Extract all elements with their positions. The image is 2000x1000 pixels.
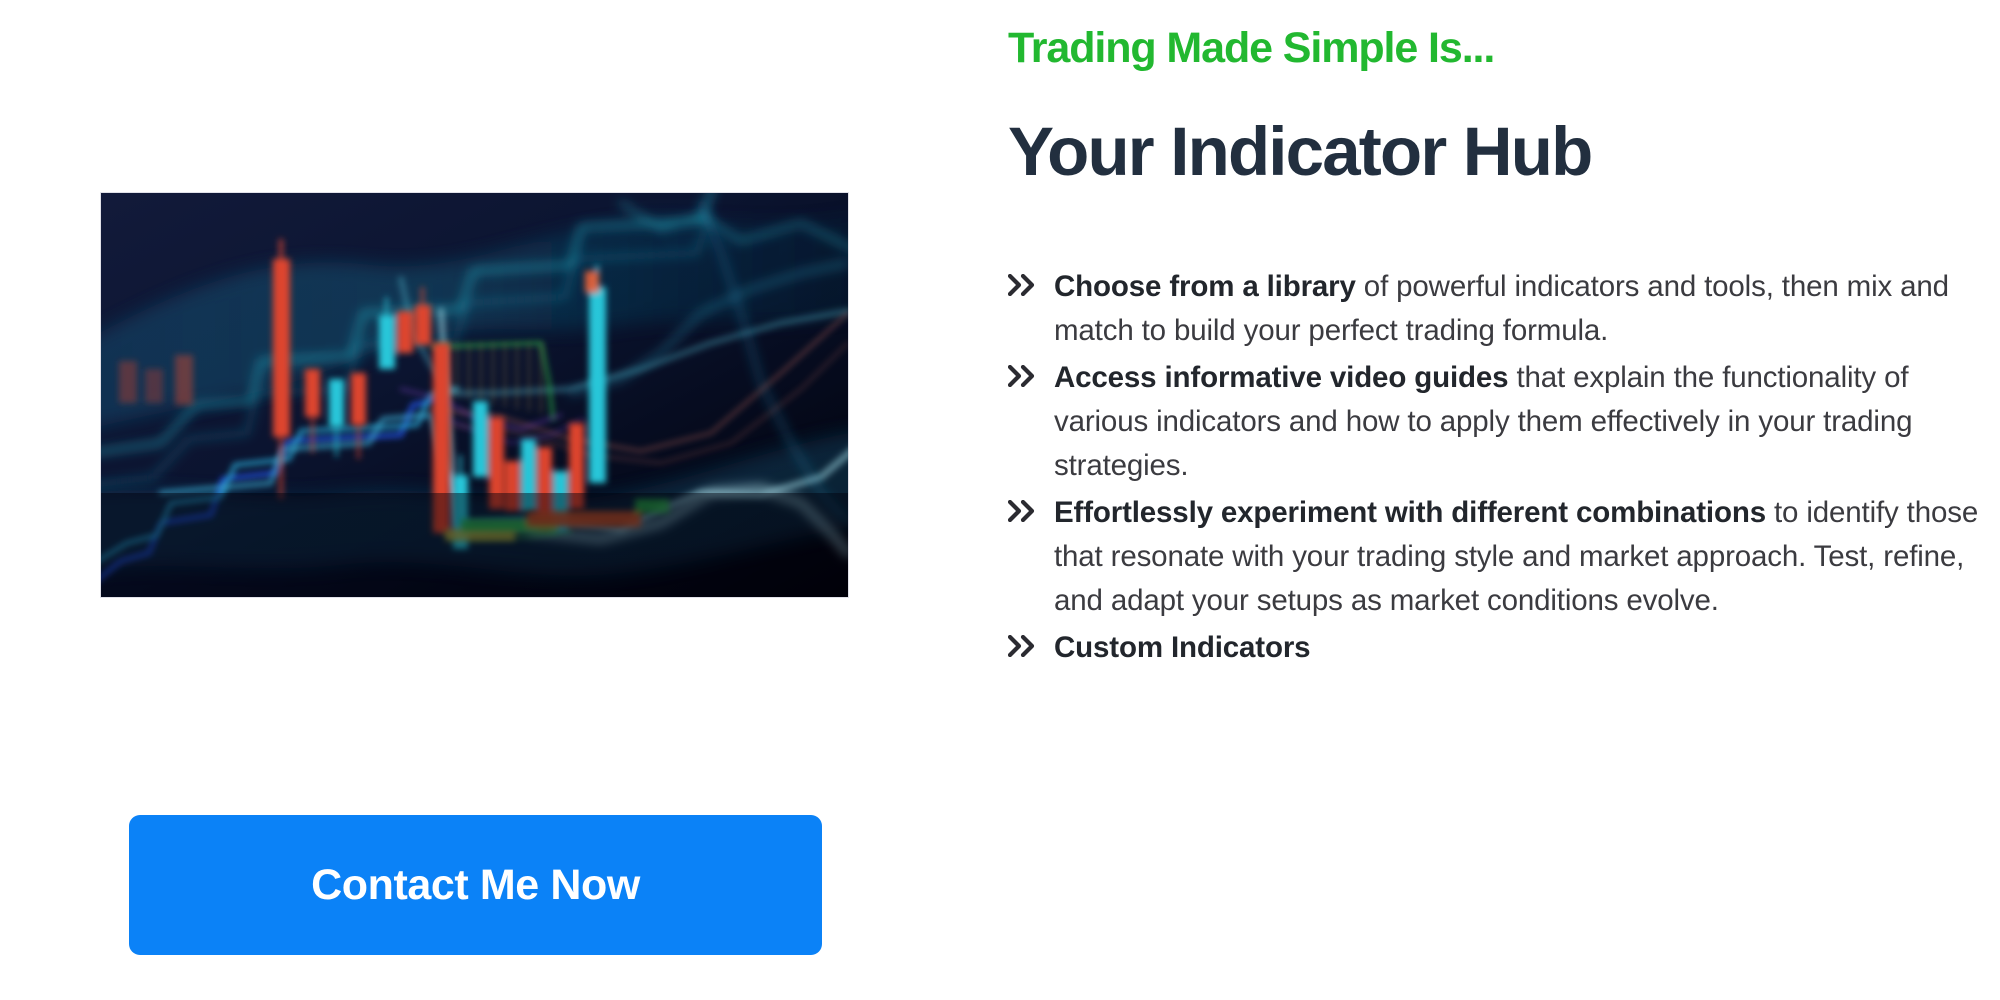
benefit-lead: Custom Indicators xyxy=(1054,631,1310,664)
double-chevron-right-icon xyxy=(1008,265,1054,296)
section-eyebrow: Trading Made Simple Is... xyxy=(1008,24,1494,73)
benefit-text: Access informative video guides that exp… xyxy=(1054,356,2000,488)
benefit-lead: Effortlessly experiment with different c… xyxy=(1054,496,1766,529)
benefit-lead: Access informative video guides xyxy=(1054,361,1508,394)
list-item: Effortlessly experiment with different c… xyxy=(1008,491,2000,623)
benefit-text: Effortlessly experiment with different c… xyxy=(1054,491,2000,623)
contact-me-now-button[interactable]: Contact Me Now xyxy=(129,815,822,955)
benefit-text: Choose from a library of powerful indica… xyxy=(1054,265,2000,353)
double-chevron-right-icon xyxy=(1008,491,1054,522)
right-column: Trading Made Simple Is... Your Indicator… xyxy=(1008,0,2000,1000)
trading-chart-image xyxy=(101,193,848,597)
benefit-text: Custom Indicators xyxy=(1054,626,2000,670)
benefit-lead: Choose from a library xyxy=(1054,270,1356,303)
cta-container: Contact Me Now xyxy=(129,815,822,955)
double-chevron-right-icon xyxy=(1008,356,1054,387)
double-chevron-right-icon xyxy=(1008,626,1054,657)
page-title: Your Indicator Hub xyxy=(1008,112,1591,191)
indicator-hub-section: Contact Me Now Trading Made Simple Is...… xyxy=(0,0,2000,1000)
list-item: Custom Indicators xyxy=(1008,626,2000,670)
benefits-list: Choose from a library of powerful indica… xyxy=(1008,265,2000,673)
list-item: Access informative video guides that exp… xyxy=(1008,356,2000,488)
list-item: Choose from a library of powerful indica… xyxy=(1008,265,2000,353)
left-column: Contact Me Now xyxy=(0,0,950,1000)
